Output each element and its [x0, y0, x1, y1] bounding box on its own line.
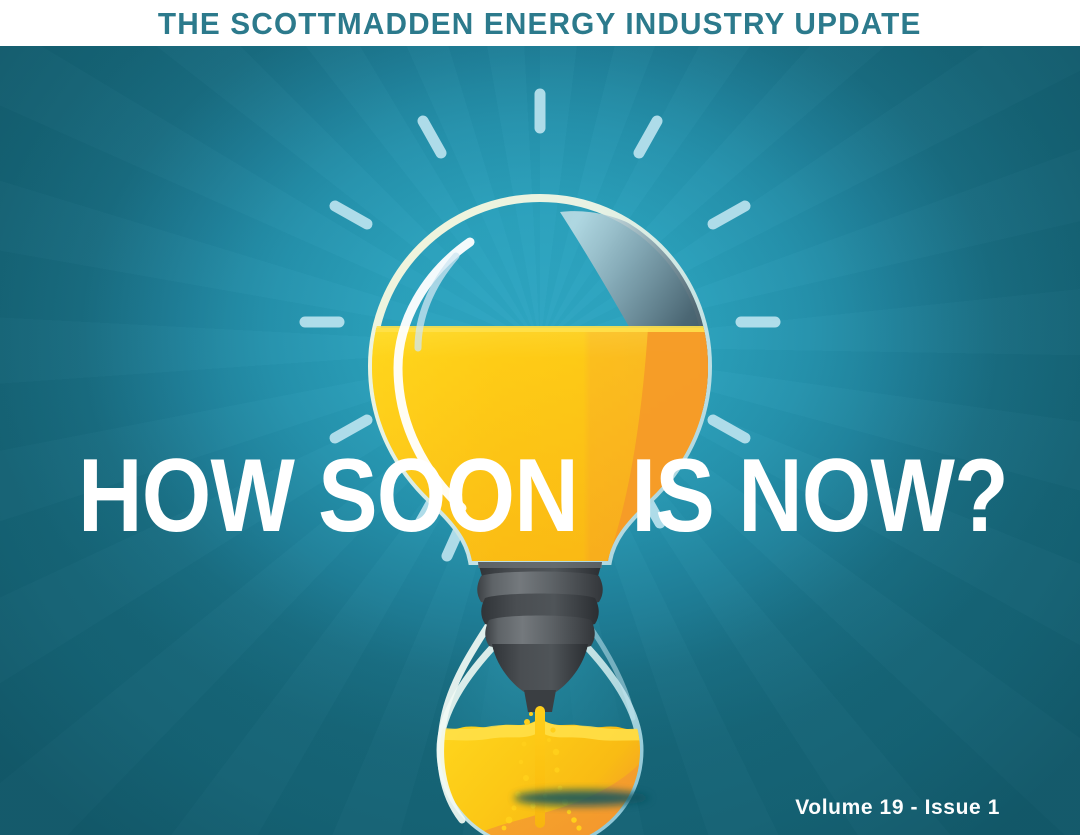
ray-icon	[335, 420, 367, 438]
ray-icon	[639, 121, 657, 153]
volume-issue-label: Volume 19 - Issue 1	[795, 796, 1000, 820]
ray-icon	[713, 206, 745, 224]
publication-title: THE SCOTTMADDEN ENERGY INDUSTRY UPDATE	[158, 8, 922, 39]
ray-icon	[423, 121, 441, 153]
screw-top-rim	[478, 562, 602, 568]
magazine-cover: THE SCOTTMADDEN ENERGY INDUSTRY UPDATE	[0, 0, 1080, 835]
lightbulb-hourglass-illustration	[0, 46, 1080, 835]
upper-bulb	[360, 198, 720, 578]
cover-background	[0, 46, 1080, 835]
upper-sand-surface	[360, 326, 720, 332]
ray-icon	[335, 206, 367, 224]
sand-stream-column	[535, 706, 545, 828]
drop-shadow	[514, 790, 650, 806]
header-bar: THE SCOTTMADDEN ENERGY INDUSTRY UPDATE	[0, 0, 1080, 46]
ray-icon	[713, 420, 745, 438]
